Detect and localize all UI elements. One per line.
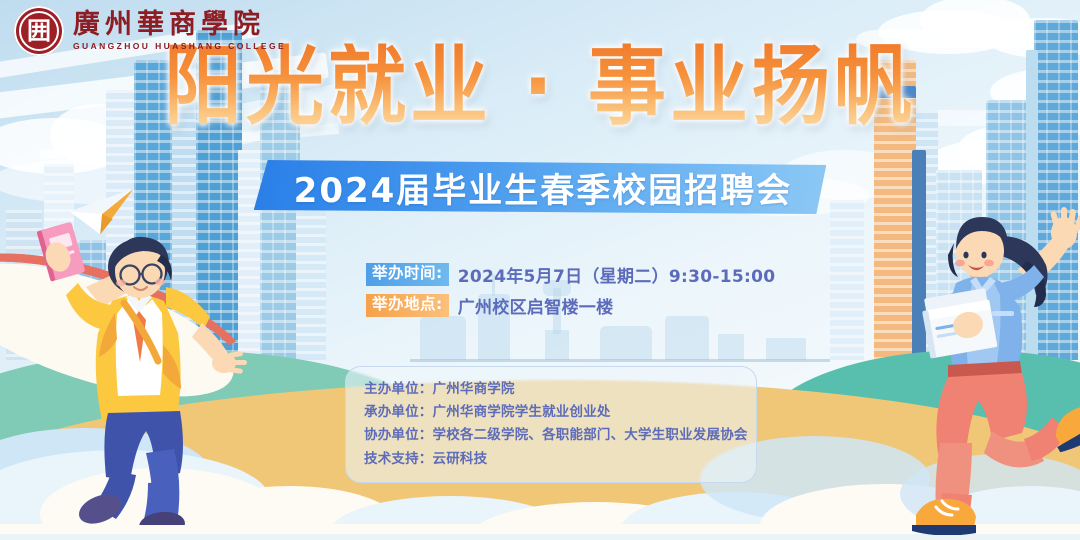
skyline-far	[766, 338, 806, 360]
college-logo[interactable]: 囲 廣州華商學院 GUANGZHOU HUASHANG COLLEGE	[14, 6, 286, 56]
skyline-far	[545, 330, 569, 360]
event-location-row: 举办地点: 广州校区启智楼一楼	[366, 293, 775, 318]
organizer-undertaker: 承办单位：广州华商学院学生就业创业处	[364, 401, 756, 424]
male-student-illustration	[20, 195, 250, 525]
skyline-far	[718, 334, 744, 360]
event-time-value: 2024年5月7日（星期二）9:30-15:00	[458, 262, 776, 287]
college-name-cn: 廣州華商學院	[73, 11, 286, 39]
event-time-label: 举办时间:	[366, 263, 449, 286]
skyline-baseline	[410, 359, 830, 362]
college-seal-icon: 囲	[14, 6, 64, 56]
event-location-label: 举办地点:	[366, 294, 449, 317]
organizer-info-box: 主办单位：广州华商学院 承办单位：广州华商学院学生就业创业处 协办单位：学校各二…	[345, 366, 757, 483]
skyline-far	[600, 326, 652, 360]
subtitle-text: 2024届毕业生春季校园招聘会	[294, 163, 793, 212]
organizer-host: 主办单位：广州华商学院	[364, 378, 756, 401]
subtitle-banner-wrap: 2024届毕业生春季校园招聘会	[0, 160, 1080, 214]
seal-glyph: 囲	[14, 6, 64, 56]
event-time-row: 举办时间: 2024年5月7日（星期二）9:30-15:00	[366, 262, 775, 287]
main-title: 阳光就业 · 事业扬帆	[0, 43, 1080, 130]
organizer-coorganizer: 协办单位：学校各二级学院、各职能部门、大学生职业发展协会	[364, 424, 756, 447]
recruitment-poster: 囲 廣州華商學院 GUANGZHOU HUASHANG COLLEGE 阳光就业…	[0, 0, 1080, 540]
event-location-value: 广州校区启智楼一楼	[458, 293, 614, 318]
building	[830, 200, 864, 360]
college-name-en: GUANGZHOU HUASHANG COLLEGE	[73, 41, 286, 51]
event-info-block: 举办时间: 2024年5月7日（星期二）9:30-15:00 举办地点: 广州校…	[366, 262, 775, 324]
organizer-tech-support: 技术支持：云研科技	[364, 448, 756, 471]
female-student-illustration	[900, 205, 1080, 535]
subtitle-banner: 2024届毕业生春季校园招聘会	[254, 160, 827, 214]
